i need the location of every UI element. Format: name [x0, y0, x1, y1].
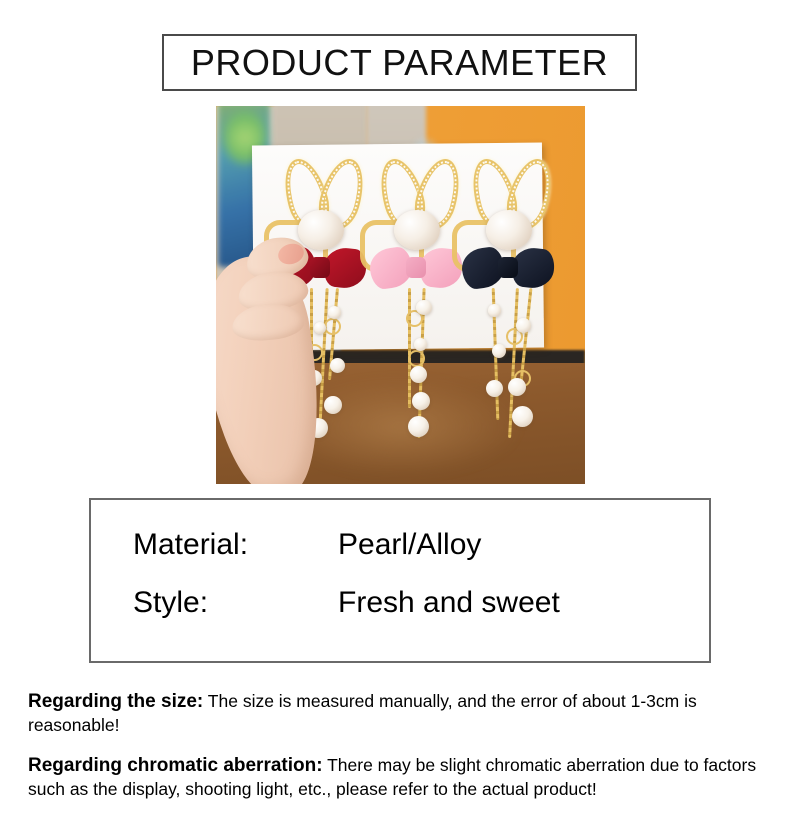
pearl-drop	[410, 366, 427, 383]
note-chromatic-aberration: Regarding chromatic aberration: There ma…	[28, 754, 776, 801]
pearl-drop	[516, 318, 531, 333]
chain-ring	[324, 318, 341, 335]
pearl-drop	[512, 406, 533, 427]
note-size: Regarding the size: The size is measured…	[28, 690, 776, 737]
tassel-chain	[408, 288, 411, 408]
bow-knot	[310, 257, 330, 278]
hair-clip-black	[456, 158, 560, 478]
center-pearl	[486, 210, 532, 250]
pearl-drop	[324, 396, 342, 414]
pearl-drop	[486, 380, 503, 397]
pearl-drop	[330, 358, 345, 373]
specification-box: Material: Pearl/Alloy Style: Fresh and s…	[89, 498, 711, 663]
pearl-drop	[408, 416, 429, 437]
pearl-drop	[328, 306, 341, 319]
page-title: PRODUCT PARAMETER	[191, 45, 608, 81]
pearl-drop	[508, 378, 526, 396]
spec-value-style: Fresh and sweet	[338, 586, 560, 620]
center-pearl	[298, 210, 344, 250]
page-title-box: PRODUCT PARAMETER	[162, 34, 637, 91]
bow-knot	[498, 257, 518, 278]
pearl-drop	[412, 392, 430, 410]
spec-row-style: Style: Fresh and sweet	[133, 586, 560, 620]
chain-ring	[408, 350, 425, 367]
ribbon-bow	[462, 246, 554, 290]
hair-clip-pink	[364, 158, 468, 478]
note-size-lead: Regarding the size:	[28, 691, 203, 712]
note-chromatic-aberration-lead: Regarding chromatic aberration:	[28, 755, 323, 776]
ribbon-bow	[370, 246, 462, 290]
spec-label-material: Material:	[133, 528, 338, 562]
pearl-drop	[488, 304, 501, 317]
footer-notes: Regarding the size: The size is measured…	[28, 672, 776, 814]
pearl-drop	[492, 344, 506, 358]
product-photo	[216, 106, 585, 484]
bow-knot	[406, 257, 426, 278]
center-pearl	[394, 210, 440, 250]
pearl-drop	[314, 322, 326, 334]
pearl-drop	[414, 338, 427, 351]
spec-label-style: Style:	[133, 586, 338, 620]
spec-value-material: Pearl/Alloy	[338, 528, 481, 562]
pearl-drop	[416, 300, 432, 315]
spec-row-material: Material: Pearl/Alloy	[133, 528, 481, 562]
